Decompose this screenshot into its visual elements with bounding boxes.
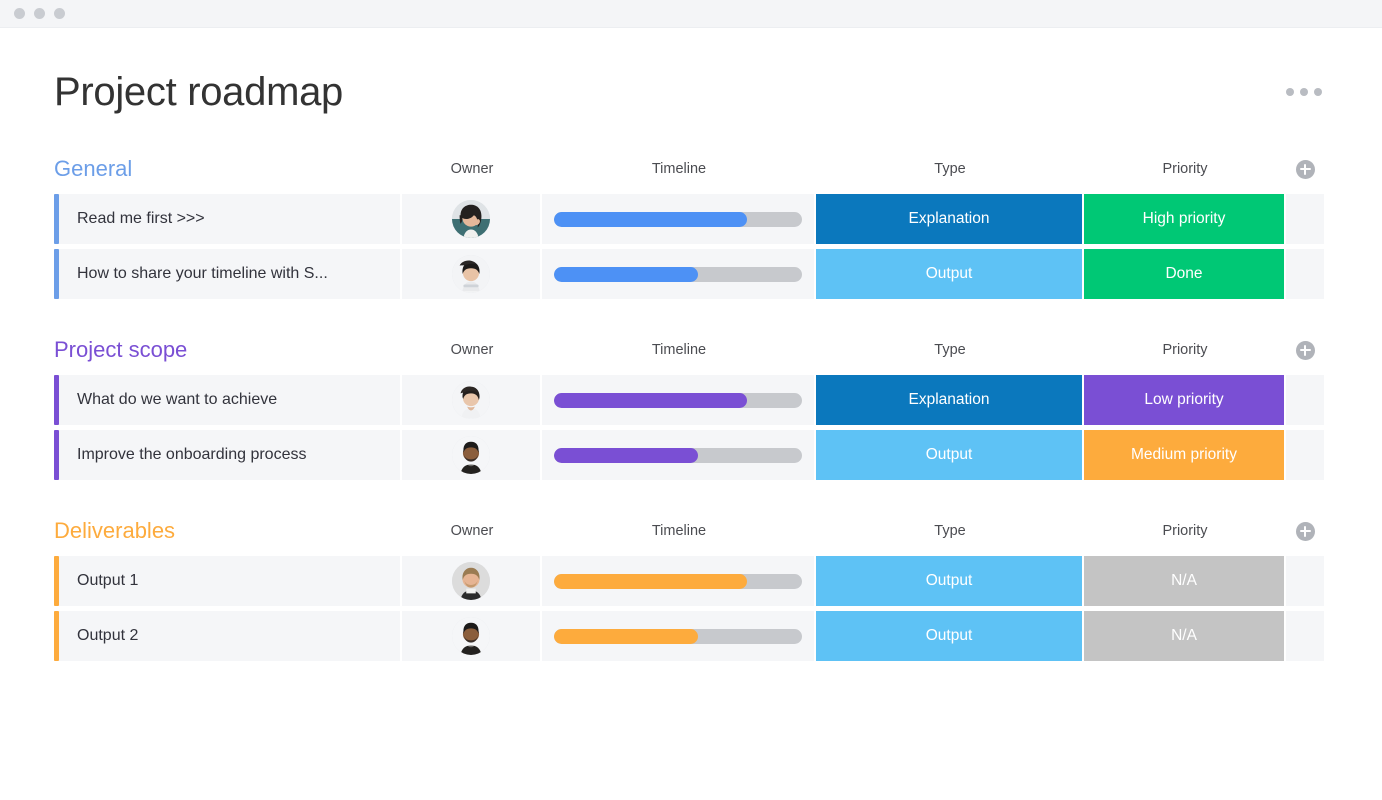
column-header-type[interactable]: Type — [816, 161, 1084, 177]
group-rows: What do we want to achieveExplanationLow… — [54, 375, 1328, 480]
table-row[interactable]: Output 1OutputN/A — [54, 556, 1328, 606]
kebab-dot — [1300, 88, 1308, 96]
timeline-bar-fill — [554, 629, 698, 644]
timeline-bar-fill — [554, 448, 698, 463]
avatar[interactable] — [452, 617, 490, 655]
row-tail-cell — [1286, 430, 1324, 480]
timeline-cell[interactable] — [542, 249, 816, 299]
column-header-type[interactable]: Type — [816, 523, 1084, 539]
row-tail-cell — [1286, 194, 1324, 244]
column-header-priority[interactable]: Priority — [1084, 161, 1286, 177]
timeline-bar-track — [554, 212, 802, 227]
column-header-timeline[interactable]: Timeline — [542, 342, 816, 358]
priority-cell[interactable]: Medium priority — [1084, 430, 1286, 480]
title-row: Project roadmap — [54, 28, 1328, 112]
column-header-priority[interactable]: Priority — [1084, 342, 1286, 358]
item-name-label: Improve the onboarding process — [59, 446, 306, 464]
timeline-cell[interactable] — [542, 430, 816, 480]
table-row[interactable]: What do we want to achieveExplanationLow… — [54, 375, 1328, 425]
timeline-cell[interactable] — [542, 194, 816, 244]
avatar[interactable] — [452, 562, 490, 600]
timeline-bar-track — [554, 393, 802, 408]
group: GeneralOwnerTimelineTypePriorityRead me … — [54, 152, 1328, 299]
table-row[interactable]: How to share your timeline with S...Outp… — [54, 249, 1328, 299]
group: DeliverablesOwnerTimelineTypePriorityOut… — [54, 514, 1328, 661]
item-name-cell[interactable]: Read me first >>> — [54, 194, 402, 244]
column-header-timeline[interactable]: Timeline — [542, 523, 816, 539]
item-name-label: Output 1 — [59, 572, 138, 590]
type-cell[interactable]: Output — [816, 249, 1084, 299]
item-name-label: Read me first >>> — [59, 210, 205, 228]
type-cell[interactable]: Output — [816, 611, 1084, 661]
item-name-label: How to share your timeline with S... — [59, 265, 328, 283]
priority-cell[interactable]: Done — [1084, 249, 1286, 299]
timeline-bar-fill — [554, 267, 698, 282]
minimize-dot[interactable] — [34, 8, 45, 19]
timeline-bar-fill — [554, 574, 747, 589]
type-status-badge[interactable]: Explanation — [816, 375, 1082, 425]
group-rows: Output 1OutputN/AOutput 2OutputN/A — [54, 556, 1328, 661]
group-rows: Read me first >>>ExplanationHigh priorit… — [54, 194, 1328, 299]
avatar[interactable] — [452, 436, 490, 474]
board-page: Project roadmap GeneralOwnerTimelineType… — [0, 28, 1382, 661]
priority-status-badge[interactable]: Medium priority — [1084, 430, 1284, 480]
owner-cell[interactable] — [402, 375, 542, 425]
timeline-bar-track — [554, 574, 802, 589]
timeline-bar-track — [554, 267, 802, 282]
group-title[interactable]: Project scope — [54, 339, 402, 361]
column-header-owner[interactable]: Owner — [402, 523, 542, 539]
item-name-cell[interactable]: How to share your timeline with S... — [54, 249, 402, 299]
add-column-icon[interactable] — [1296, 522, 1315, 541]
timeline-cell[interactable] — [542, 375, 816, 425]
timeline-cell[interactable] — [542, 611, 816, 661]
owner-cell[interactable] — [402, 249, 542, 299]
groups-container: GeneralOwnerTimelineTypePriorityRead me … — [54, 152, 1328, 661]
group-header: DeliverablesOwnerTimelineTypePriority — [54, 514, 1328, 548]
group-header: Project scopeOwnerTimelineTypePriority — [54, 333, 1328, 367]
row-tail-cell — [1286, 375, 1324, 425]
group-title[interactable]: General — [54, 158, 402, 180]
item-name-cell[interactable]: Output 2 — [54, 611, 402, 661]
priority-cell[interactable]: N/A — [1084, 556, 1286, 606]
type-status-badge[interactable]: Output — [816, 430, 1082, 480]
timeline-bar-track — [554, 448, 802, 463]
type-cell[interactable]: Output — [816, 430, 1084, 480]
group-header: GeneralOwnerTimelineTypePriority — [54, 152, 1328, 186]
priority-cell[interactable]: High priority — [1084, 194, 1286, 244]
avatar[interactable] — [452, 200, 490, 238]
owner-cell[interactable] — [402, 194, 542, 244]
item-name-cell[interactable]: Improve the onboarding process — [54, 430, 402, 480]
priority-cell[interactable]: Low priority — [1084, 375, 1286, 425]
kebab-dot — [1314, 88, 1322, 96]
type-cell[interactable]: Explanation — [816, 194, 1084, 244]
row-tail-cell — [1286, 556, 1324, 606]
timeline-bar-fill — [554, 393, 747, 408]
table-row[interactable]: Improve the onboarding processOutputMedi… — [54, 430, 1328, 480]
add-column-icon[interactable] — [1296, 160, 1315, 179]
item-name-label: What do we want to achieve — [59, 391, 277, 409]
page-title: Project roadmap — [54, 72, 343, 112]
timeline-bar-fill — [554, 212, 747, 227]
column-header-owner[interactable]: Owner — [402, 342, 542, 358]
type-status-badge[interactable]: Explanation — [816, 194, 1082, 244]
column-header-owner[interactable]: Owner — [402, 161, 542, 177]
owner-cell[interactable] — [402, 430, 542, 480]
column-header-type[interactable]: Type — [816, 342, 1084, 358]
owner-cell[interactable] — [402, 556, 542, 606]
close-dot[interactable] — [14, 8, 25, 19]
row-tail-cell — [1286, 611, 1324, 661]
group-title[interactable]: Deliverables — [54, 520, 402, 542]
type-status-badge[interactable]: Output — [816, 249, 1082, 299]
type-status-badge[interactable]: Output — [816, 611, 1082, 661]
item-name-cell[interactable]: What do we want to achieve — [54, 375, 402, 425]
item-name-label: Output 2 — [59, 627, 138, 645]
kebab-menu-icon[interactable] — [1286, 72, 1328, 96]
priority-status-badge[interactable]: Low priority — [1084, 375, 1284, 425]
priority-cell[interactable]: N/A — [1084, 611, 1286, 661]
maximize-dot[interactable] — [54, 8, 65, 19]
column-header-timeline[interactable]: Timeline — [542, 161, 816, 177]
timeline-bar-track — [554, 629, 802, 644]
window-chrome — [0, 0, 1382, 28]
avatar[interactable] — [452, 255, 490, 293]
timeline-cell[interactable] — [542, 556, 816, 606]
table-row[interactable]: Output 2OutputN/A — [54, 611, 1328, 661]
row-tail-cell — [1286, 249, 1324, 299]
avatar[interactable] — [452, 381, 490, 419]
group: Project scopeOwnerTimelineTypePriorityWh… — [54, 333, 1328, 480]
owner-cell[interactable] — [402, 611, 542, 661]
kebab-dot — [1286, 88, 1294, 96]
priority-status-badge[interactable]: Done — [1084, 249, 1284, 299]
type-cell[interactable]: Output — [816, 556, 1084, 606]
column-header-priority[interactable]: Priority — [1084, 523, 1286, 539]
type-status-badge[interactable]: Output — [816, 556, 1082, 606]
priority-status-badge[interactable]: High priority — [1084, 194, 1284, 244]
priority-status-badge[interactable]: N/A — [1084, 556, 1284, 606]
priority-status-badge[interactable]: N/A — [1084, 611, 1284, 661]
add-column-icon[interactable] — [1296, 341, 1315, 360]
table-row[interactable]: Read me first >>>ExplanationHigh priorit… — [54, 194, 1328, 244]
item-name-cell[interactable]: Output 1 — [54, 556, 402, 606]
type-cell[interactable]: Explanation — [816, 375, 1084, 425]
